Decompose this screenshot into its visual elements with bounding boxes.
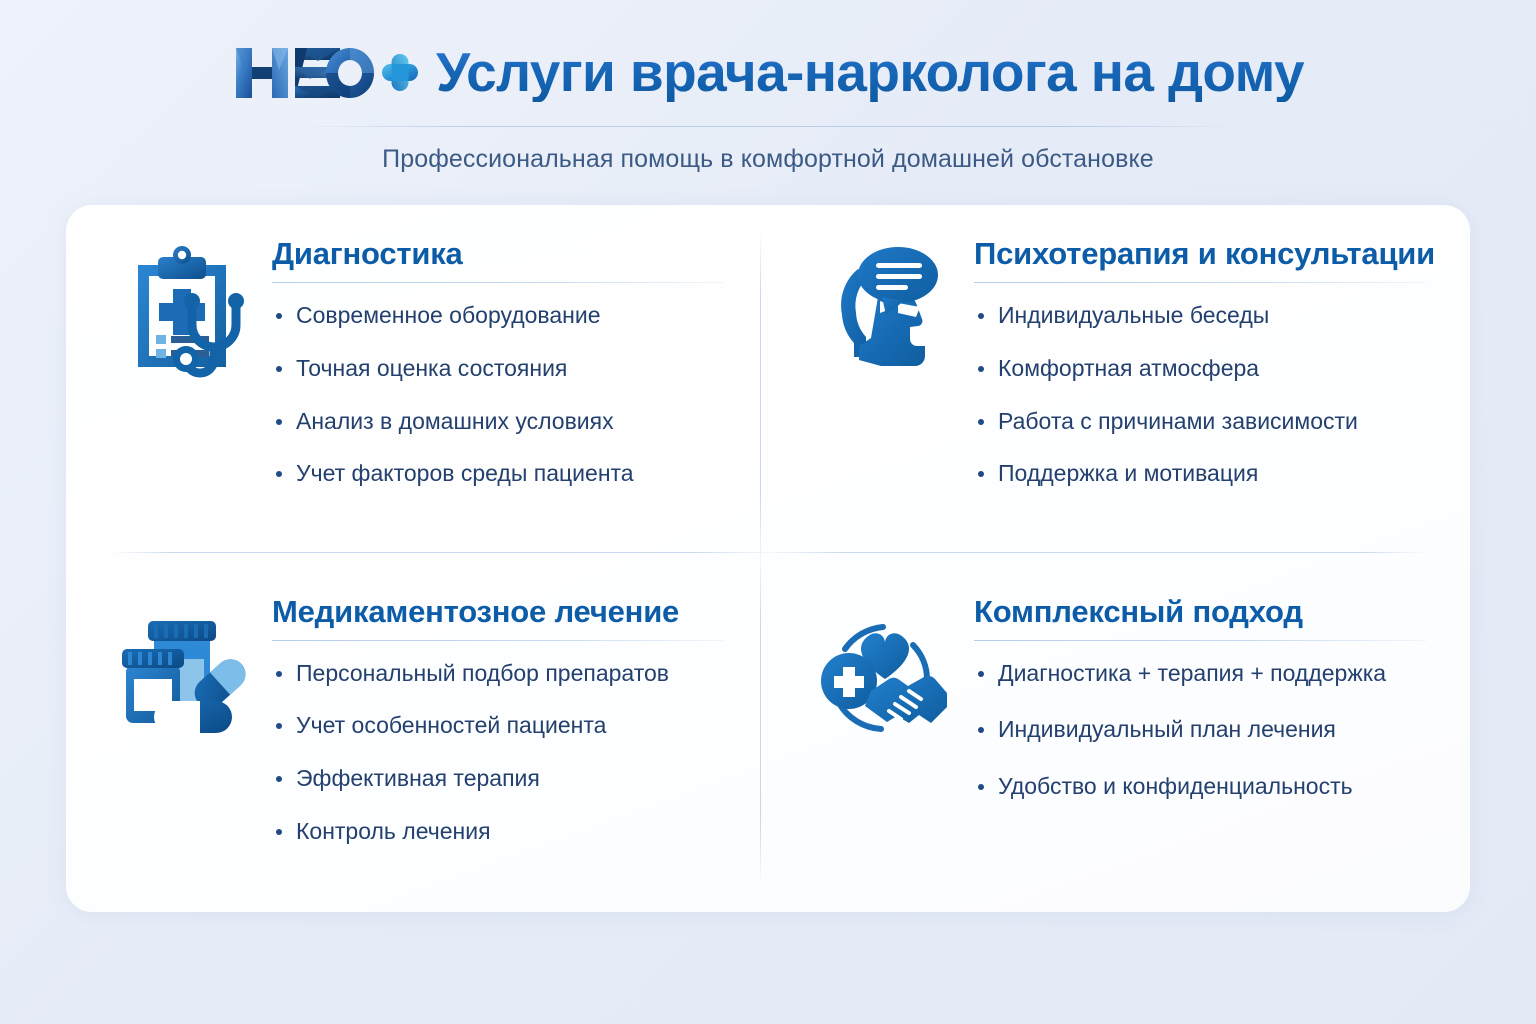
page-title: Услуги врача-нарколога на дому: [436, 44, 1304, 102]
service-card-psychotherapy[interactable]: Психотерапия и консультации Индивидуальн…: [768, 205, 1470, 559]
list-item: Комфортная атмосфера: [974, 354, 1436, 383]
card-title-underline: [974, 640, 1426, 641]
card-title-underline: [272, 282, 724, 283]
list-item: Современное оборудование: [272, 301, 734, 330]
list-item: Удобство и конфиденциальность: [974, 772, 1436, 801]
card-title: Медикаментозное лечение: [272, 593, 734, 630]
list-item: Диагностика + терапия + поддержка: [974, 659, 1436, 688]
services-panel: Диагностика Современное оборудование Точ…: [66, 205, 1470, 912]
clipboard-stethoscope-icon: [106, 235, 258, 387]
list-item: Точная оценка состояния: [272, 354, 734, 383]
card-body: Психотерапия и консультации Индивидуальн…: [960, 235, 1436, 488]
card-bullet-list: Персональный подбор препаратов Учет особ…: [272, 659, 734, 846]
service-card-medication[interactable]: Медикаментозное лечение Персональный под…: [66, 559, 768, 913]
list-item: Учет факторов среды пациента: [272, 459, 734, 488]
head-speech-bubble-icon: [808, 235, 960, 387]
service-card-diagnostics[interactable]: Диагностика Современное оборудование Точ…: [66, 205, 768, 559]
list-item: Эффективная терапия: [272, 764, 734, 793]
service-card-complex-approach[interactable]: Комплексный подход Диагностика + терапия…: [768, 559, 1470, 913]
card-title-underline: [974, 282, 1426, 283]
card-title: Психотерапия и консультации: [974, 235, 1436, 272]
list-item: Поддержка и мотивация: [974, 459, 1436, 488]
list-item: Контроль лечения: [272, 817, 734, 846]
header-divider: [298, 126, 1238, 127]
list-item: Учет особенностей пациента: [272, 711, 734, 740]
list-item: Персональный подбор препаратов: [272, 659, 734, 688]
services-grid: Диагностика Современное оборудование Точ…: [66, 205, 1470, 912]
list-item: Работа с причинами зависимости: [974, 407, 1436, 436]
card-body: Комплексный подход Диагностика + терапия…: [960, 593, 1436, 829]
list-item: Индивидуальный план лечения: [974, 715, 1436, 744]
card-title: Диагностика: [272, 235, 734, 272]
list-item: Индивидуальные беседы: [974, 301, 1436, 330]
handshake-heart-cross-icon: [808, 593, 960, 745]
card-bullet-list: Диагностика + терапия + поддержка Индиви…: [974, 659, 1436, 801]
card-title-underline: [272, 640, 724, 641]
grid-divider-vertical: [760, 231, 761, 886]
page-header: Услуги врача-нарколога на дому Профессио…: [0, 0, 1536, 174]
pills-bottles-icon: [106, 593, 258, 745]
grid-divider-horizontal: [110, 552, 1426, 553]
list-item: Анализ в домашних условиях: [272, 407, 734, 436]
neo-plus-logo: [232, 40, 418, 106]
card-body: Диагностика Современное оборудование Точ…: [258, 235, 734, 488]
card-title: Комплексный подход: [974, 593, 1436, 630]
card-bullet-list: Современное оборудование Точная оценка с…: [272, 301, 734, 488]
header-row: Услуги врача-нарколога на дому: [0, 34, 1536, 112]
page-subtitle: Профессиональная помощь в комфортной дом…: [0, 145, 1536, 174]
card-body: Медикаментозное лечение Персональный под…: [258, 593, 734, 846]
logo-letter-o: [326, 48, 374, 98]
logo-plus-icon: [382, 54, 418, 91]
card-bullet-list: Индивидуальные беседы Комфортная атмосфе…: [974, 301, 1436, 488]
logo-letter-n: [236, 48, 288, 98]
